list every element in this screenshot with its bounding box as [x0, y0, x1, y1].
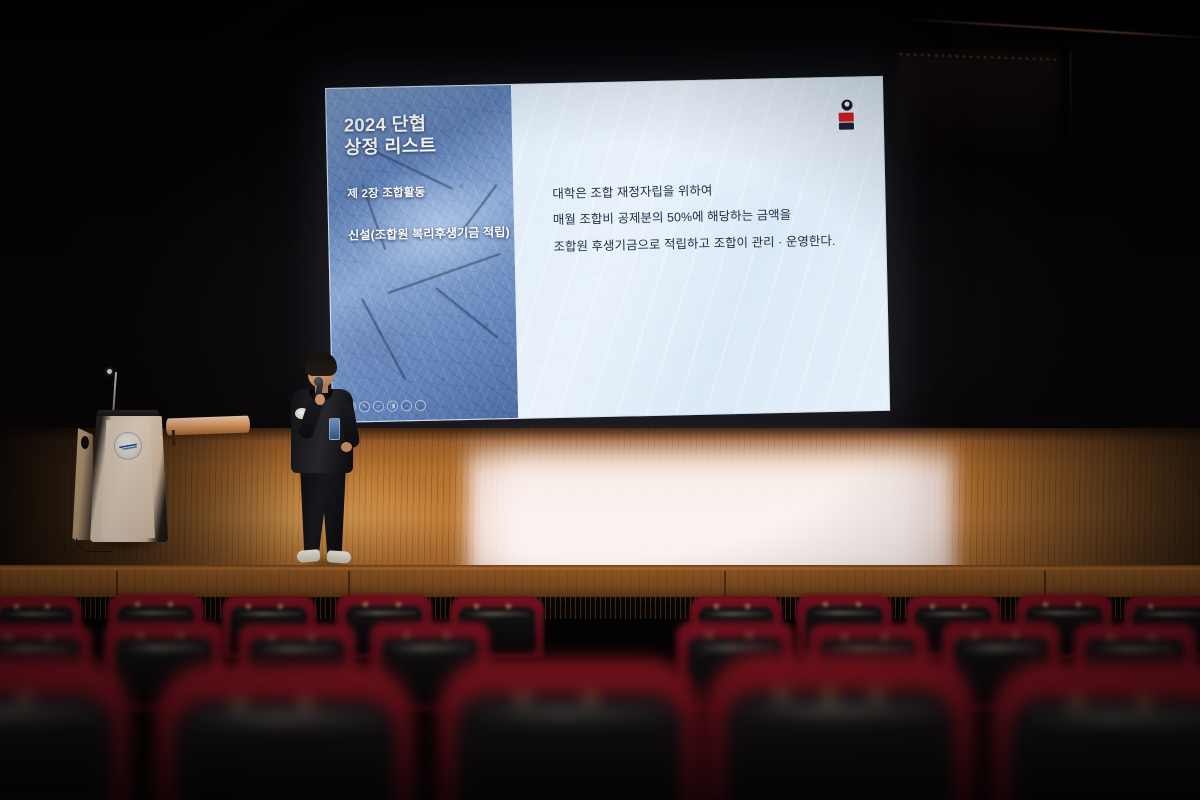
seat[interactable]	[156, 664, 414, 800]
ceiling-vertical-rail	[1070, 52, 1071, 142]
slide-body-line-3: 조합원 후생기금으로 적립하고 조합이 관리 · 운영한다.	[553, 227, 836, 259]
projection-screen: 2024 단협 상정 리스트 제 2장 조합활동 신설(조합원 복리후생기금 적…	[325, 76, 890, 423]
crest-wave-mark	[119, 442, 137, 450]
presenter-left-hand	[315, 394, 325, 405]
slide-subtitle-item: 신설(조합원 복리후생기금 적립)	[348, 223, 510, 244]
eraser-icon[interactable]: ◨	[387, 400, 398, 411]
lectern	[62, 372, 242, 558]
slide-subtitle-chapter: 제 2장 조합활동	[347, 184, 425, 202]
lectern-side-table	[166, 416, 251, 436]
seat[interactable]	[0, 658, 130, 800]
more-options-icon[interactable]: ⋯	[415, 400, 426, 411]
lectern-knob	[159, 436, 162, 439]
logo-circle-icon	[841, 100, 852, 111]
auditorium-photo: 2024 단협 상정 리스트 제 2장 조합활동 신설(조합원 복리후생기금 적…	[0, 0, 1200, 800]
stage-shadow-right	[960, 428, 1200, 580]
lectern-handle-cutout	[81, 436, 89, 449]
lectern-side-table-leg	[172, 430, 176, 446]
presenter-right-hand	[341, 442, 352, 452]
slide-body-text: 대학은 조합 재정자립을 위하여 매월 조합비 공제분의 50%에 해당하는 금…	[552, 175, 836, 260]
auditorium-seats	[0, 592, 1200, 800]
slide-title: 2024 단협 상정 리스트	[344, 113, 437, 159]
logo-red-bar	[839, 112, 854, 121]
slide: 2024 단협 상정 리스트 제 2장 조합활동 신설(조합원 복리후생기금 적…	[325, 76, 890, 423]
lectern-antenna-tip	[107, 369, 112, 374]
presenter-left-shoe	[297, 549, 321, 563]
microphone-head	[314, 377, 323, 386]
seat[interactable]	[438, 658, 700, 800]
presenter-right-shoe	[327, 550, 352, 564]
university-crest-icon	[114, 432, 142, 460]
seat[interactable]	[992, 662, 1200, 800]
seat[interactable]	[706, 654, 974, 800]
presenter-hair	[305, 352, 337, 376]
presenter	[283, 352, 375, 570]
logo-dark-bar	[839, 122, 854, 129]
magnifier-icon[interactable]: ⌕	[401, 400, 412, 411]
slide-right-panel: 대학은 조합 재정자립을 위하여 매월 조합비 공제분의 50%에 해당하는 금…	[511, 77, 889, 418]
presenter-legs	[297, 468, 349, 554]
broadcaster-logo	[838, 99, 855, 129]
ceiling-structure	[898, 52, 1058, 162]
projector-light-core	[500, 452, 920, 578]
presenter-badge	[329, 418, 340, 440]
slide-title-line2: 상정 리스트	[344, 134, 437, 158]
slide-title-line1: 2024 단협	[344, 113, 437, 137]
